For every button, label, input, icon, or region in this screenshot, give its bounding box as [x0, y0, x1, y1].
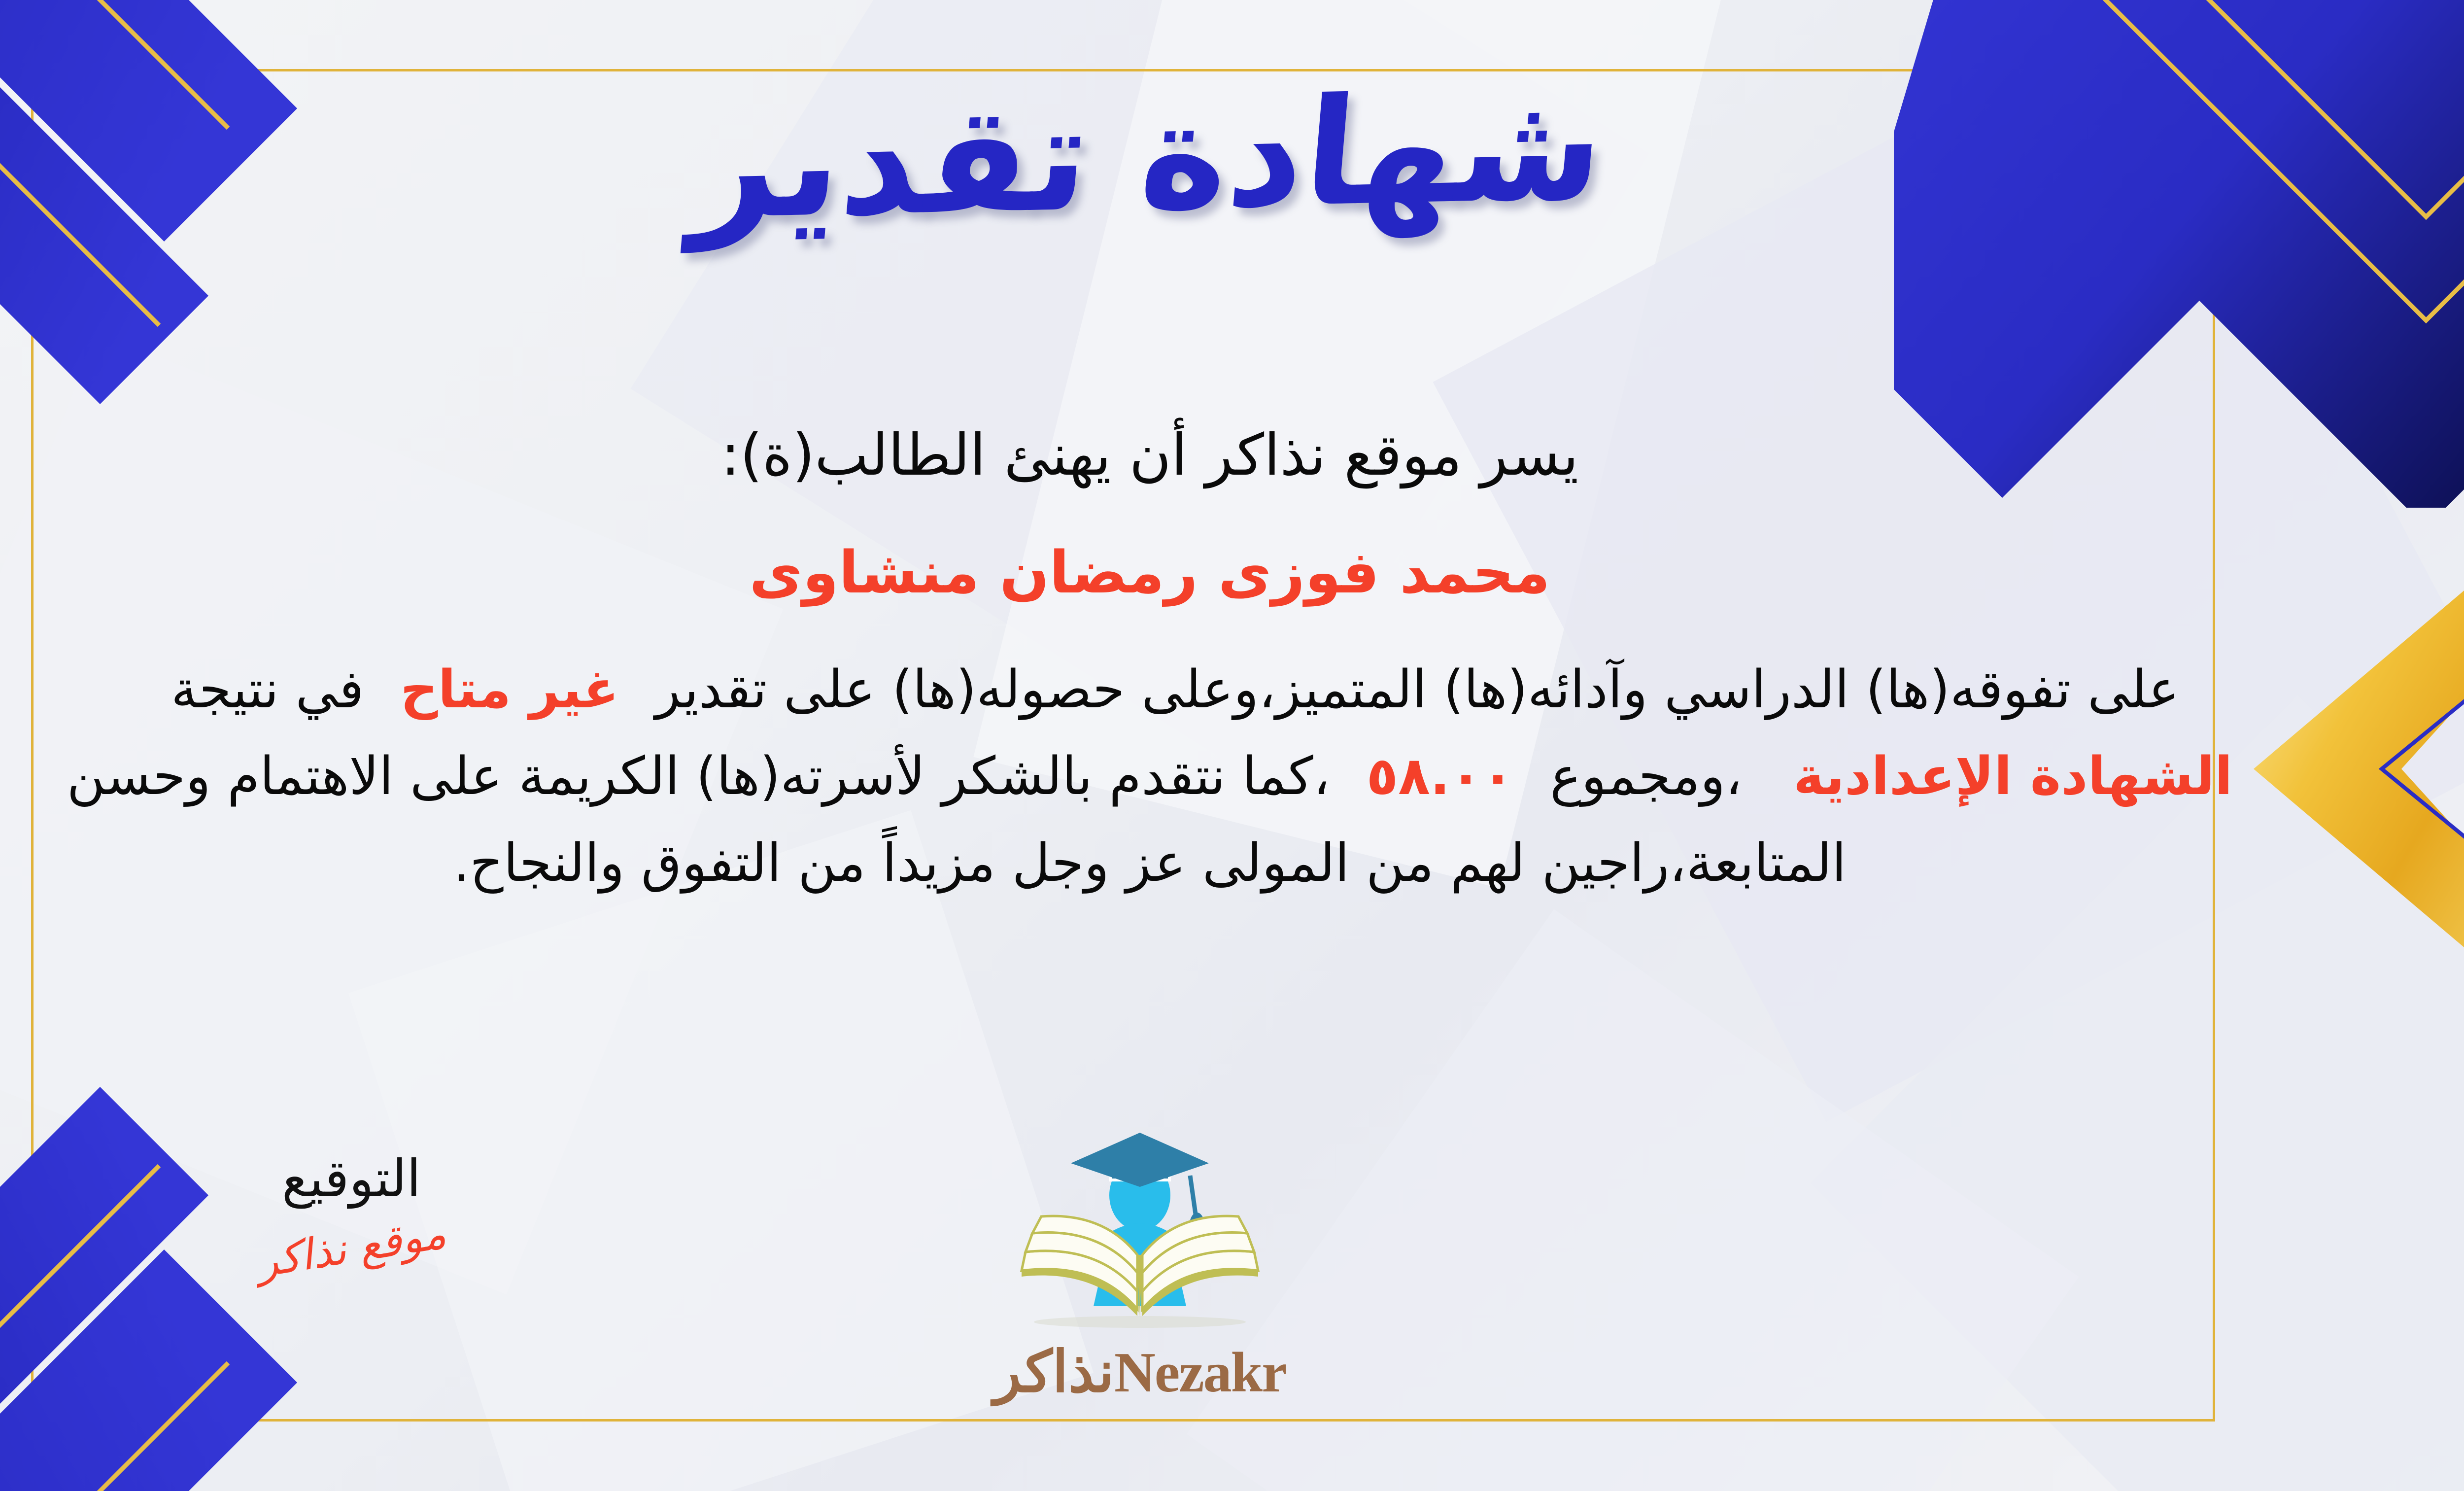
total-score: ٥٨.٠٠ — [1367, 746, 1514, 806]
paragraph-segment-2: في نتيجة — [171, 659, 364, 720]
greeting-line: يسر موقع نذاكر أن يهنئ الطالب(ة): — [46, 409, 2254, 502]
paragraph-segment-1: على تفوقه(ها) الدراسي وآدائه(ها) المتميز… — [655, 659, 2180, 720]
paragraph-segment-3: ،ومجموع — [1550, 746, 1742, 806]
graduate-book-icon — [987, 1129, 1293, 1336]
corner-ornament-bottom-left — [0, 1062, 297, 1491]
brand-logo: Nezakrنذاكر — [953, 1129, 1327, 1406]
certificate-canvas: شهادة تقدير يسر موقع نذاكر أن يهنئ الطال… — [0, 0, 2464, 1491]
grade-value: غير متاح — [400, 659, 619, 720]
signature-mark: موقع نذاكر — [254, 1209, 449, 1287]
signature-block: التوقيع موقع نذاكر — [179, 1148, 524, 1273]
brand-wordmark: Nezakrنذاكر — [953, 1339, 1327, 1406]
student-name: محمد فوزى رمضان منشاوى — [46, 525, 2254, 620]
certificate-title-area: شهادة تقدير — [0, 79, 2464, 234]
achievement-paragraph: على تفوقه(ها) الدراسي وآدائه(ها) المتميز… — [46, 646, 2254, 906]
certificate-body: يسر موقع نذاكر أن يهنئ الطالب(ة): محمد ف… — [46, 409, 2254, 906]
signature-label: التوقيع — [179, 1148, 524, 1209]
page-title: شهادة تقدير — [687, 69, 1610, 244]
exam-name: الشهادة الإعدادية — [1793, 746, 2232, 806]
